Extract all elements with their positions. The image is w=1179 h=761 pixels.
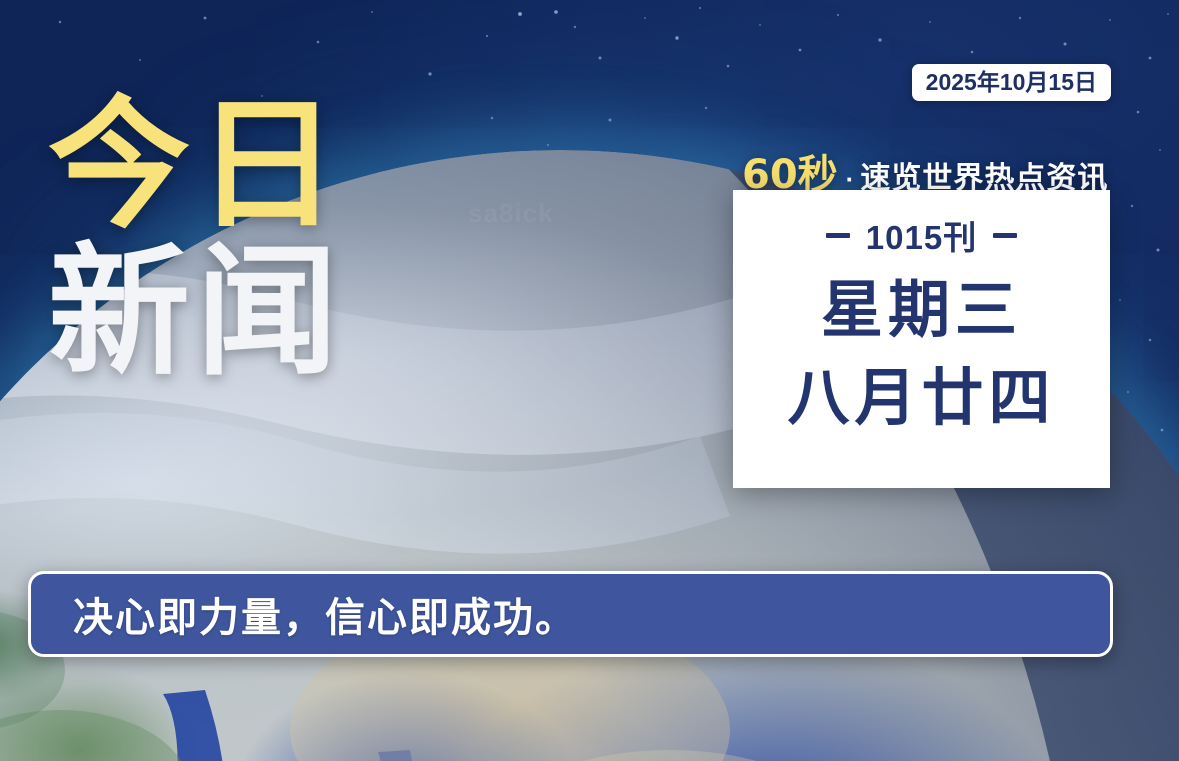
issue-row: 1015刊 — [826, 211, 1017, 259]
quote-text: 决心即力量，信心即成功。 — [73, 585, 577, 643]
headline-line-2: 新闻 — [48, 243, 488, 384]
date-badge: 2025年10月15日 — [912, 64, 1111, 101]
weekday: 星期三 — [821, 279, 1022, 341]
dash-left-icon — [826, 233, 850, 238]
issue-number: 1015刊 — [866, 211, 977, 259]
news-poster: sa8ick 今日 新闻 2025年10月15日 60秒 · 速览世界热点资讯 … — [0, 0, 1179, 761]
quote-bar: 决心即力量，信心即成功。 — [28, 571, 1113, 657]
headline-line-1: 今日 — [48, 96, 488, 237]
dash-right-icon — [993, 233, 1017, 238]
info-card: 1015刊 星期三 八月廿四 — [733, 190, 1110, 488]
lunar-date: 八月廿四 — [787, 367, 1055, 429]
headline: 今日 新闻 — [48, 96, 488, 383]
